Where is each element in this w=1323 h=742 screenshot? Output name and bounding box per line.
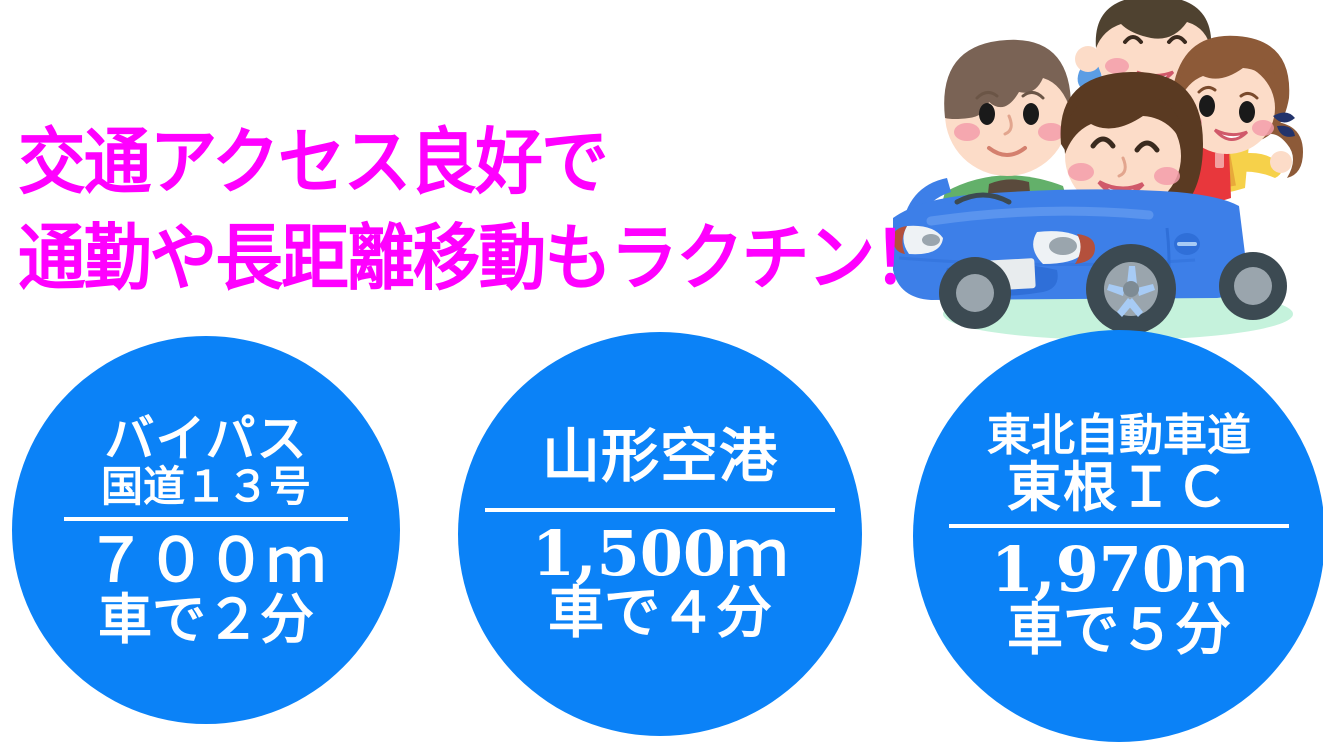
badge-distance: 1,970ｍ — [991, 538, 1247, 601]
badge-metrics-group: 1,500ｍ 車で４分 — [532, 522, 788, 642]
badge-title-group: 山形空港 — [542, 426, 778, 486]
access-badge-bypass: バイパス 国道１３号 ７００ｍ 車で２分 — [12, 336, 400, 724]
badge-title-group: バイパス 国道１３号 — [101, 413, 311, 509]
access-badge-yamagata-airport: 山形空港 1,500ｍ 車で４分 — [458, 332, 862, 736]
badge-title-line-2: 国道１３号 — [101, 465, 311, 509]
headline-line-1: 交通アクセス良好で — [18, 114, 939, 210]
badge-divider — [64, 517, 348, 521]
badge-title-line-2: 東根ＩＣ — [1007, 459, 1231, 515]
badge-title-line-1: バイパス — [104, 413, 307, 465]
access-badge-tohoku-expressway-higashine-ic: 東北自動車道 東根ＩＣ 1,970ｍ 車で５分 — [913, 330, 1323, 742]
badge-travel-time: 車で５分 — [1007, 602, 1231, 659]
headline: 交通アクセス良好で 通勤や長距離移動もラクチン！ — [18, 114, 998, 306]
badge-divider — [485, 508, 835, 512]
badge-title-group: 東北自動車道 東根ＩＣ — [987, 413, 1251, 515]
headline-line-2: 通勤や長距離移動もラクチン！ — [18, 210, 939, 306]
access-infographic: 交通アクセス良好で 通勤や長距離移動もラクチン！ — [0, 0, 1323, 742]
badge-travel-time: 車で４分 — [548, 585, 772, 642]
badge-title-line-1: 東北自動車道 — [987, 413, 1251, 459]
badge-title-line-1: 山形空港 — [542, 426, 778, 486]
badge-travel-time: 車で２分 — [98, 592, 314, 647]
badge-distance: 1,500ｍ — [532, 522, 788, 585]
badge-metrics-group: 1,970ｍ 車で５分 — [991, 538, 1247, 658]
badge-divider — [949, 524, 1289, 528]
badge-metrics-group: ７００ｍ 車で２分 — [86, 531, 326, 647]
badge-distance: ７００ｍ — [86, 531, 326, 592]
